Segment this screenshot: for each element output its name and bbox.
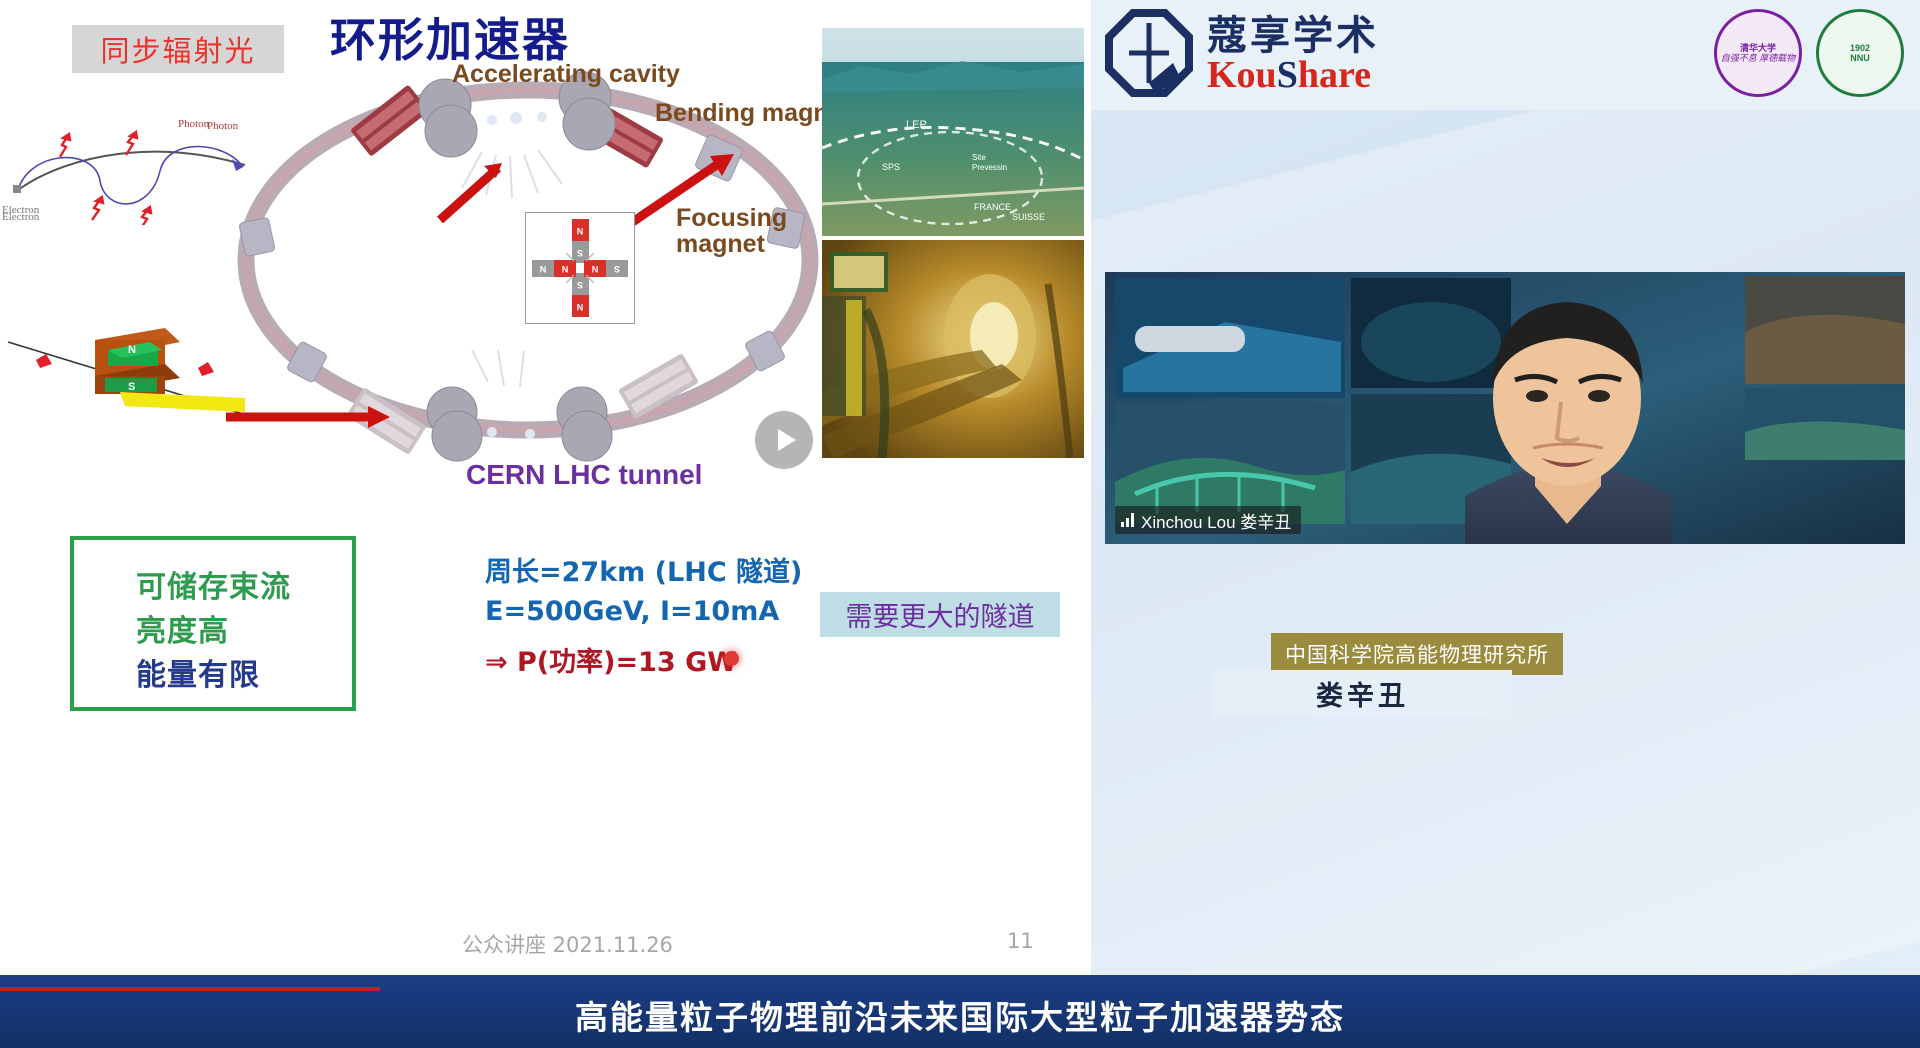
brand-header: 蔻享学术 KouShare 清华大学 自强不息 厚德载物 1902 NNU: [1091, 0, 1920, 110]
organization-badge: 中国科学院高能物理研究所: [1271, 633, 1563, 675]
focusing-magnet-label-line2: magnet: [676, 230, 765, 258]
svg-text:Prevessin: Prevessin: [972, 163, 1007, 172]
svg-text:S: S: [128, 381, 135, 393]
lep-aerial-photo: LEP SPS Site Prevessin FRANCE SUISSE: [822, 28, 1084, 236]
video-participant-name: Xinchou Lou 娄辛丑: [1141, 508, 1291, 533]
focusing-magnet-label: Focusing magnet: [676, 205, 787, 258]
svg-text:N: N: [562, 264, 569, 274]
tsinghua-seal: 清华大学 自强不息 厚德载物: [1714, 9, 1802, 97]
feature-line-3: 能量有限: [136, 650, 260, 694]
svg-text:N: N: [592, 264, 599, 274]
accelerating-cavity-label: Accelerating cavity: [452, 60, 680, 89]
banner-title: 高能量粒子物理前沿未来国际大型粒子加速器势态: [0, 991, 1920, 1039]
signal-bars-icon: [1121, 513, 1134, 527]
bottom-banner: 高能量粒子物理前沿未来国际大型粒子加速器势态: [0, 975, 1920, 1048]
brand-en-part-1: Kou: [1207, 54, 1277, 96]
slide-footer-left: 公众讲座 2021.11.26: [462, 929, 673, 959]
svg-text:N: N: [128, 344, 136, 356]
lhc-tunnel-photo: [822, 240, 1084, 458]
nnu-seal-line2: 1902: [1850, 43, 1870, 53]
stat-power: ⇒ P(功率)=13 GW: [485, 643, 802, 682]
accelerator-stats: 周长=27km (LHC 隧道) E=500GeV, I=10mA ⇒ P(功率…: [485, 553, 802, 682]
play-button-icon[interactable]: [755, 411, 813, 469]
feature-line-2: 亮度高: [136, 606, 229, 650]
nnu-seal-line1: NNU: [1850, 53, 1870, 63]
brand-en-part-2: S: [1277, 54, 1298, 96]
video-frame: [1105, 272, 1905, 544]
svg-text:S: S: [577, 280, 583, 290]
focusing-magnet-label-line1: Focusing: [676, 204, 787, 232]
synchrotron-radiation-diagram: Electron Photon: [0, 95, 260, 225]
svg-text:SUISSE: SUISSE: [1012, 212, 1045, 222]
svg-text:N: N: [577, 226, 584, 236]
svg-text:SPS: SPS: [882, 162, 900, 172]
brand-wordmark: 蔻享学术 KouShare: [1207, 16, 1379, 94]
right-panel: 蔻享学术 KouShare 清华大学 自强不息 厚德载物 1902 NNU: [1091, 0, 1920, 975]
injection-arrow: [222, 385, 412, 445]
electron-label-text: Electron: [2, 211, 39, 223]
brand-name-cn: 蔻享学术: [1207, 12, 1379, 59]
photon-label: Photon: [178, 118, 210, 130]
svg-text:FRANCE: FRANCE: [974, 202, 1011, 212]
svg-text:N: N: [540, 264, 547, 274]
university-seals: 清华大学 自强不息 厚德载物 1902 NNU: [1714, 9, 1904, 97]
bigger-tunnel-note: 需要更大的隧道: [820, 592, 1060, 637]
koushare-hexagon-logo: [1103, 7, 1195, 104]
laser-pointer-dot: [724, 651, 739, 666]
speaker-video-tile[interactable]: Xinchou Lou 娄辛丑: [1105, 272, 1905, 544]
tsinghua-seal-line1: 清华大学: [1740, 43, 1776, 53]
features-green-box: 可储存束流 亮度高 能量有限: [70, 536, 356, 711]
stat-energy-current: E=500GeV, I=10mA: [485, 592, 802, 631]
quadrupole-inset: N S S N N N N S: [525, 212, 635, 324]
slide-page-number: 11: [1007, 929, 1034, 953]
nnu-seal: 1902 NNU: [1816, 9, 1904, 97]
stat-circumference: 周长=27km (LHC 隧道): [485, 553, 802, 592]
tsinghua-seal-line2: 自强不息 厚德载物: [1721, 53, 1796, 63]
brand-en-part-3: hare: [1298, 54, 1371, 96]
feature-line-1: 可储存束流: [136, 562, 291, 606]
svg-text:S: S: [614, 264, 620, 274]
screen-root: 同步辐射光 环形加速器 Electron Photon Electron Pho…: [0, 0, 1920, 1048]
cern-lhc-tunnel-label: CERN LHC tunnel: [466, 459, 702, 491]
svg-text:S: S: [577, 248, 583, 258]
brand-name-en: KouShare: [1207, 54, 1371, 96]
svg-text:N: N: [577, 302, 584, 312]
video-participant-name-badge: Xinchou Lou 娄辛丑: [1115, 506, 1301, 534]
svg-text:Site: Site: [972, 153, 986, 162]
lep-overlay-text: LEP: [906, 119, 927, 131]
speaker-name-badge: 娄辛丑: [1213, 670, 1512, 717]
